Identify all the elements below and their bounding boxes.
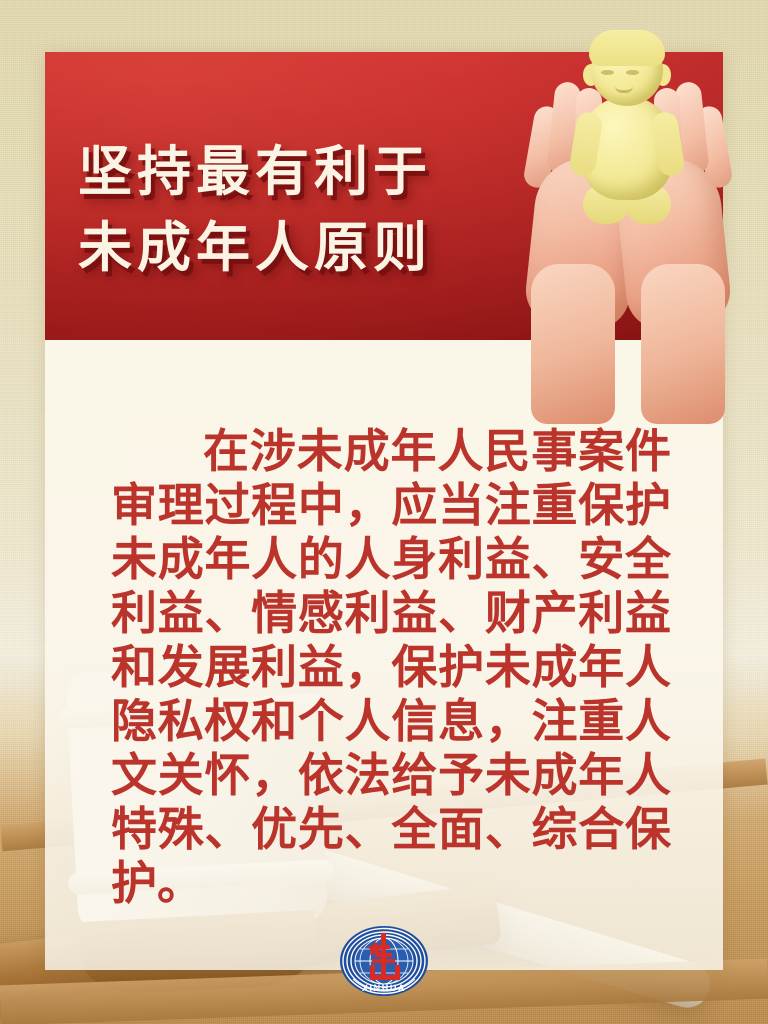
baby-hair [589,30,665,66]
baby-eye-right [626,70,639,75]
poster: 坚持最有利于 未成年人原则 [0,0,768,1024]
baby-eye-left [601,70,614,75]
poster-title: 坚持最有利于 未成年人原则 [78,134,432,286]
hand-right-wrist [641,264,725,424]
body-text: 在涉未成年人民事案件审理过程中，应当注重保护未成年人的人身利益、安全利益、情感利… [111,424,671,910]
body-paragraph: 在涉未成年人民事案件审理过程中，应当注重保护未成年人的人身利益、安全利益、情感利… [111,424,671,910]
baby-figurine [571,34,683,234]
hand-left-wrist [531,264,615,424]
title-line-2: 未成年人原则 [78,210,432,286]
xinhua-logo: XINHUA [339,925,429,997]
logo-wordmark: XINHUA [362,983,406,993]
content-card: 坚持最有利于 未成年人原则 [45,52,723,970]
title-line-1: 坚持最有利于 [78,134,432,210]
hands-holding-baby-sculpture [523,24,733,424]
